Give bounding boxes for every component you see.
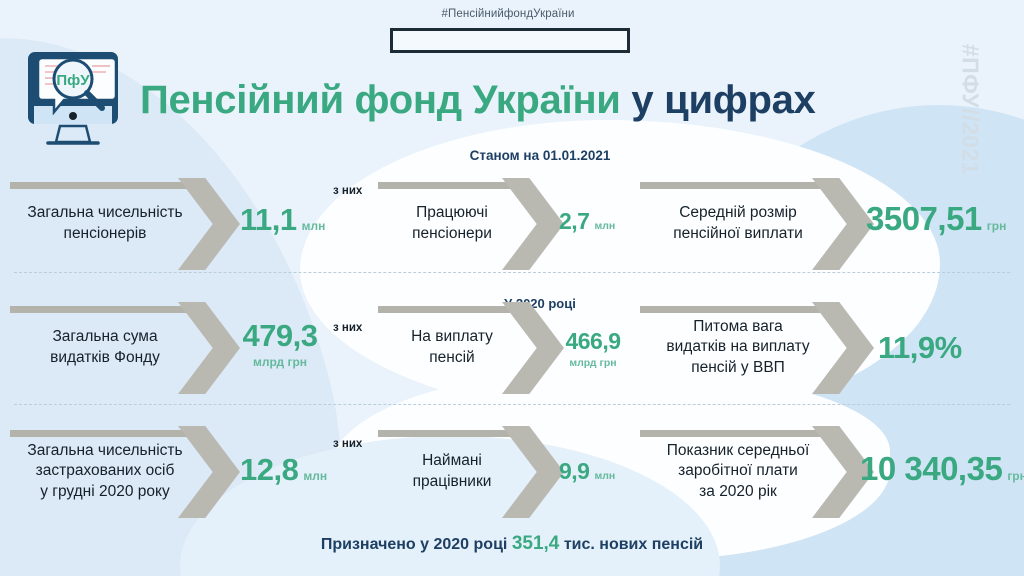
banner-sub-3: Найманіпрацівники (378, 424, 558, 520)
infographic-canvas: #ПенсійнийфондУкраїни ПфУ Пенсійний фонд… (0, 0, 1024, 576)
banner-sub-label-3: Найманіпрацівники (378, 437, 526, 506)
stat-row-2: Загальна сумавидатків Фонду 479,3млрд гр… (0, 300, 1024, 396)
banner-sub-1: Працюючіпенсіонери (378, 176, 558, 272)
stat-row-3: Загальна чисельністьзастрахованих осібу … (0, 424, 1024, 520)
banner-main-1: Загальна чисельністьпенсіонерів (10, 176, 235, 272)
footer-prefix: Призначено у 2020 році (321, 536, 508, 553)
banner-main-label-1: Загальна чисельністьпенсіонерів (10, 189, 200, 258)
logo-text: ПфУ (56, 72, 90, 89)
of-which-label-2: з них (333, 322, 362, 334)
pfu-logo: ПфУ (18, 46, 128, 151)
banner-sub-label-1: Працюючіпенсіонери (378, 189, 526, 258)
value-sub-3: 9,9млн (559, 458, 615, 485)
footer-number: 351,4 (512, 533, 560, 554)
banner-right-1: Середній розмірпенсійної виплати (640, 176, 870, 272)
footer-suffix: тис. нових пенсій (564, 536, 703, 553)
value-main-3: 12,8млн (240, 452, 327, 488)
value-sub-1: 2,7млн (559, 208, 615, 235)
value-sub-2: 466,9млрд грн (548, 330, 638, 369)
banner-right-2: Питома вагавидатків на виплатупенсій у В… (640, 300, 870, 396)
banner-main-3: Загальна чисельністьзастрахованих осібу … (10, 424, 235, 520)
footer-note: Призначено у 2020 році 351,4 тис. нових … (0, 533, 1024, 555)
value-right-3: 10 340,35грн (860, 450, 1024, 488)
page-title: Пенсійний фонд України у цифрах (140, 78, 816, 123)
banner-right-label-2: Питома вагавидатків на виплатупенсій у В… (640, 313, 836, 382)
value-right-2: 11,9% (878, 330, 967, 366)
banner-sub-label-2: На виплатупенсій (378, 313, 526, 382)
of-which-label-3: з них (333, 438, 362, 450)
title-navy: у цифрах (631, 78, 815, 122)
banner-right-3: Показник середньоїзаробітної платиза 202… (640, 424, 870, 520)
value-main-1: 11,1млн (240, 202, 325, 238)
as-of-date: Станом на 01.01.2021 (330, 148, 750, 163)
value-right-1: 3507,51грн (866, 200, 1006, 238)
row-separator-2 (14, 404, 1010, 405)
hashtag-label: #ПенсійнийфондУкраїни (398, 8, 618, 20)
banner-main-label-3: Загальна чисельністьзастрахованих осібу … (10, 437, 200, 506)
stat-row-1: Загальна чисельністьпенсіонерів 11,1млн … (0, 176, 1024, 272)
banner-sub-2: На виплатупенсій (378, 300, 558, 396)
banner-right-label-1: Середній розмірпенсійної виплати (640, 189, 836, 258)
hashtag-box (390, 28, 630, 53)
value-main-2: 479,3млрд грн (230, 320, 330, 369)
title-green: Пенсійний фонд України (140, 78, 621, 122)
of-which-label-1: з них (333, 185, 362, 197)
banner-right-label-3: Показник середньоїзаробітної платиза 202… (640, 437, 836, 506)
banner-main-2: Загальна сумавидатків Фонду (10, 300, 235, 396)
row-separator-1 (14, 272, 1010, 273)
banner-main-label-2: Загальна сумавидатків Фонду (10, 313, 200, 382)
